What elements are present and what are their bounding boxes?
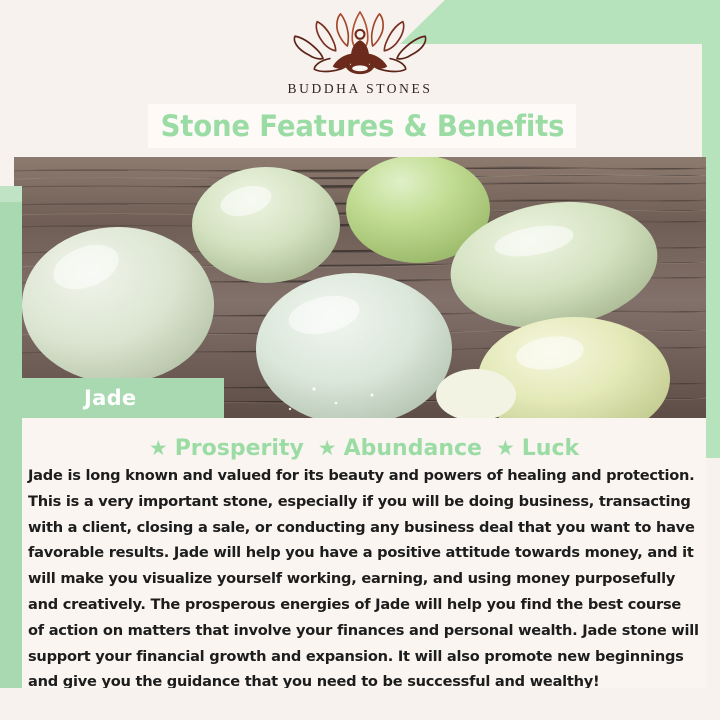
brand-name: BUDDHA STONES bbox=[288, 81, 433, 97]
star-icon: ★ bbox=[318, 438, 337, 459]
star-icon: ★ bbox=[496, 438, 515, 459]
keyword-list: ★ Prosperity ★ Abundance ★ Luck bbox=[22, 430, 706, 466]
stone-name-banner: Jade bbox=[22, 378, 224, 418]
content-panel: ★ Prosperity ★ Abundance ★ Luck Jade is … bbox=[22, 418, 706, 688]
decorative-green-right-strip-lower bbox=[706, 418, 720, 458]
keyword-label: Prosperity bbox=[175, 436, 304, 461]
star-icon: ★ bbox=[149, 438, 168, 459]
stone-description: Jade is long known and valued for its be… bbox=[14, 463, 714, 695]
stone-name: Jade bbox=[84, 386, 136, 410]
keyword-label: Abundance bbox=[344, 436, 482, 461]
decorative-green-left-notch bbox=[0, 186, 22, 202]
lotus-meditation-icon bbox=[285, 10, 435, 80]
stone-info-card: BUDDHA STONES Stone Features & Benefits bbox=[0, 0, 720, 720]
keyword-abundance: ★ Abundance bbox=[318, 436, 482, 461]
page-bottom-margin bbox=[0, 688, 720, 720]
title-banner: Stone Features & Benefits bbox=[148, 104, 576, 148]
brand-header: BUDDHA STONES bbox=[0, 0, 720, 110]
keyword-luck: ★ Luck bbox=[496, 436, 579, 461]
keyword-label: Luck bbox=[522, 436, 579, 461]
page-title: Stone Features & Benefits bbox=[160, 109, 564, 143]
keyword-prosperity: ★ Prosperity bbox=[149, 436, 304, 461]
